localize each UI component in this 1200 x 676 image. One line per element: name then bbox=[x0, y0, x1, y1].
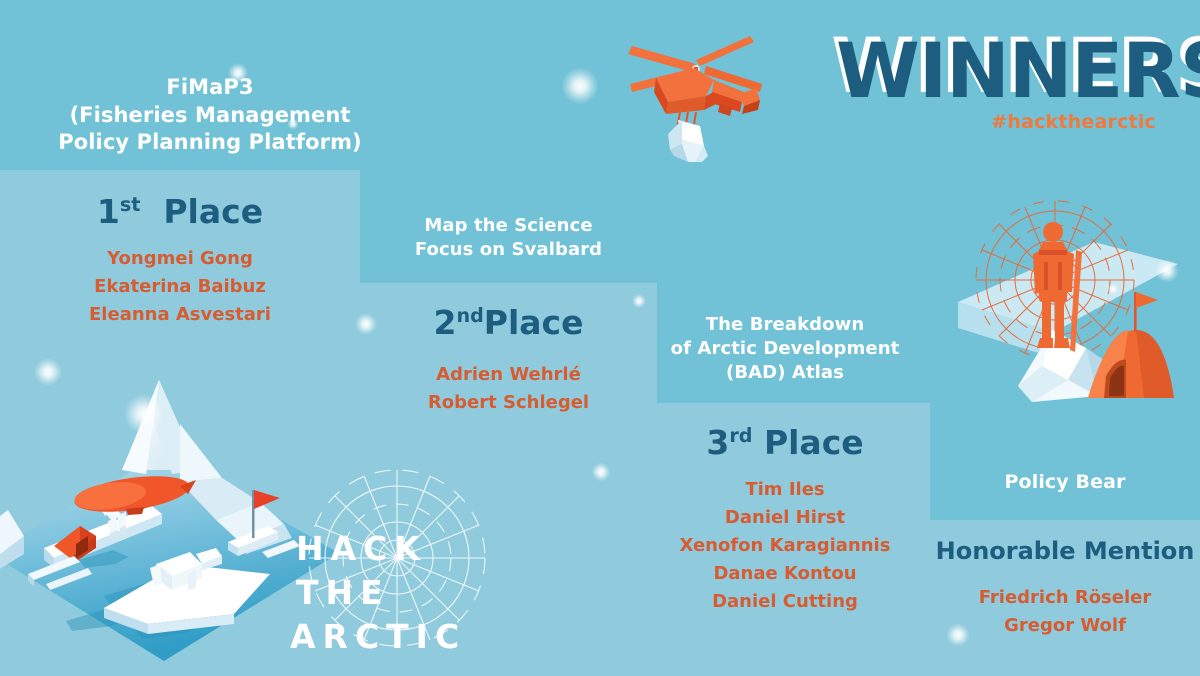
rank-heading-4: Honorable Mention bbox=[930, 537, 1200, 565]
poster-canvas: WINNERS #hackthearctic FiMaP3 (Fisheries… bbox=[0, 0, 1200, 676]
project-title-4: Policy Bear bbox=[930, 470, 1200, 495]
project-title-3-line: of Arctic Development bbox=[640, 337, 930, 361]
logo-line-1: HACK bbox=[292, 527, 502, 571]
member-name: Robert Schlegel bbox=[360, 389, 657, 417]
rank-heading-2: 2ndPlace bbox=[360, 303, 657, 342]
member-name: Daniel Cutting bbox=[640, 588, 930, 616]
rank-label-4: Honorable Mention bbox=[936, 537, 1195, 565]
project-title-2-line: Map the Science bbox=[360, 214, 657, 238]
rank-ordinal-2: nd bbox=[456, 304, 483, 327]
rank-label-1: Place bbox=[163, 192, 263, 231]
rank-label-2: Place bbox=[484, 303, 584, 342]
member-list-1: Yongmei Gong Ekaterina Baibuz Eleanna As… bbox=[0, 245, 360, 329]
member-list-3: Tim Iles Daniel Hirst Xenofon Karagianni… bbox=[640, 476, 930, 615]
hashtag-label: #hackthearctic bbox=[836, 111, 1156, 133]
logo-text: HACK THE ARCTIC bbox=[292, 527, 502, 659]
project-title-2: Map the Science Focus on Svalbard bbox=[360, 214, 657, 262]
project-title-3-line: The Breakdown bbox=[640, 313, 930, 337]
rank-ordinal-1: st bbox=[120, 193, 141, 216]
rank-number-2: 2 bbox=[434, 303, 457, 342]
member-name: Xenofon Karagiannis bbox=[640, 532, 930, 560]
glow-particle bbox=[556, 62, 604, 110]
project-title-1: FiMaP3 (Fisheries Management Policy Plan… bbox=[0, 74, 420, 157]
project-title-1-line: FiMaP3 bbox=[0, 74, 420, 102]
member-name: Ekaterina Baibuz bbox=[0, 273, 360, 301]
rank-heading-3: 3rd Place bbox=[640, 423, 930, 462]
member-name: Yongmei Gong bbox=[0, 245, 360, 273]
member-name: Daniel Hirst bbox=[640, 504, 930, 532]
helicopter-illustration bbox=[608, 22, 778, 162]
hack-the-arctic-logo: HACK THE ARCTIC bbox=[292, 463, 502, 663]
explorer-illustration bbox=[958, 180, 1200, 402]
rank-number-1: 1 bbox=[97, 192, 120, 231]
winners-title-wrap: WINNERS bbox=[836, 33, 1156, 109]
member-name: Eleanna Asvestari bbox=[0, 301, 360, 329]
member-list-4: Friedrich Röseler Gregor Wolf bbox=[930, 584, 1200, 640]
member-list-2: Adrien Wehrlé Robert Schlegel bbox=[360, 361, 657, 417]
member-name: Friedrich Röseler bbox=[930, 584, 1200, 612]
project-title-1-line: (Fisheries Management bbox=[0, 102, 420, 130]
project-title-1-line: Policy Planning Platform) bbox=[0, 129, 420, 157]
rank-number-3: 3 bbox=[706, 423, 729, 462]
member-name: Adrien Wehrlé bbox=[360, 361, 657, 389]
page-title: WINNERS bbox=[836, 33, 1156, 109]
project-title-2-line: Focus on Svalbard bbox=[360, 238, 657, 262]
rank-label-3: Place bbox=[764, 423, 864, 462]
logo-line-3: ARCTIC bbox=[292, 615, 502, 659]
member-name: Danae Kontou bbox=[640, 560, 930, 588]
rank-ordinal-3: rd bbox=[729, 424, 752, 447]
project-title-3: The Breakdown of Arctic Development (BAD… bbox=[640, 313, 930, 384]
project-title-4-line: Policy Bear bbox=[930, 470, 1200, 495]
project-title-3-line: (BAD) Atlas bbox=[640, 361, 930, 385]
member-name: Gregor Wolf bbox=[930, 612, 1200, 640]
logo-line-2: THE bbox=[292, 571, 502, 615]
rank-heading-1: 1st Place bbox=[0, 192, 360, 231]
member-name: Tim Iles bbox=[640, 476, 930, 504]
